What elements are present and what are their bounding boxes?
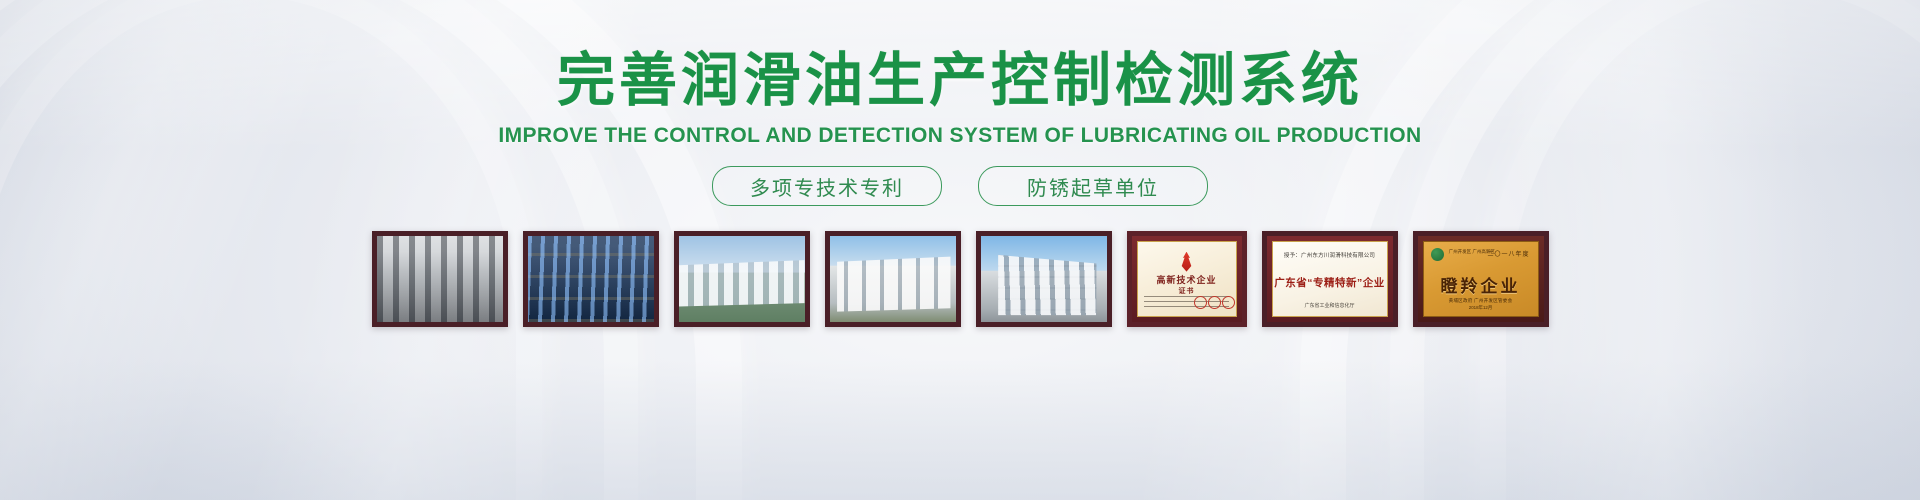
- banner-headline: 完善润滑油生产控制检测系统: [557, 52, 1363, 110]
- plaque-face: 广州开发区 广州高新区 二〇一八年度 瞪羚企业 黄埔区政府 广州开发区管委会 2…: [1423, 241, 1539, 317]
- photo-image: [528, 236, 654, 322]
- cert-top-line: 授予：广州东方川润滑科技有限公司: [1282, 251, 1378, 259]
- plaque-year: 二〇一八年度: [1488, 249, 1530, 258]
- thumbnail-gallery: 高新技术企业 证书 授予：广州东方川润滑科技有限公司 广东省“专精特新”企业 广…: [372, 231, 1549, 327]
- cert-title-main: 高新技术企业: [1138, 273, 1236, 286]
- banner-content: 完善润滑油生产控制检测系统 IMPROVE THE CONTROL AND DE…: [0, 0, 1920, 500]
- cert-title-main: 广东省“专精特新”企业: [1273, 275, 1387, 290]
- cert-bottom-line: 广东省工业和信息化厅: [1273, 302, 1387, 309]
- cert-title-sub: 证书: [1138, 286, 1236, 296]
- flame-icon: [1179, 252, 1195, 272]
- plaque-bottom-line: 黄埔区政府 广州开发区管委会: [1424, 298, 1538, 304]
- photo-image: [377, 236, 503, 322]
- badge-row: 多项专技术专利 防锈起草单位: [712, 166, 1208, 206]
- certificate-face: 授予：广州东方川润滑科技有限公司 广东省“专精特新”企业 广东省工业和信息化厅: [1272, 241, 1388, 317]
- gov-logo-icon: [1431, 248, 1444, 261]
- plaque-bottom-date: 2018年12月: [1424, 305, 1538, 311]
- photo-factory-interior[interactable]: [372, 231, 508, 327]
- photo-image: [981, 236, 1107, 322]
- promo-banner: 完善润滑油生产控制检测系统 IMPROVE THE CONTROL AND DE…: [0, 0, 1920, 500]
- plaque-title-main: 瞪羚企业: [1424, 272, 1538, 297]
- photo-office-building[interactable]: [976, 231, 1112, 327]
- photo-image: [679, 236, 805, 322]
- photo-blue-piping[interactable]: [523, 231, 659, 327]
- banner-subheadline: IMPROVE THE CONTROL AND DETECTION SYSTEM…: [498, 124, 1421, 148]
- certificate-face: 高新技术企业 证书: [1137, 241, 1237, 317]
- photo-image: [830, 236, 956, 322]
- cert-high-tech-enterprise[interactable]: 高新技术企业 证书: [1127, 231, 1247, 327]
- badge-antirust-standard[interactable]: 防锈起草单位: [978, 166, 1208, 206]
- seal-icon: [1222, 296, 1235, 309]
- plaque-gazelle-enterprise[interactable]: 广州开发区 广州高新区 二〇一八年度 瞪羚企业 黄埔区政府 广州开发区管委会 2…: [1413, 231, 1549, 327]
- photo-storage-tanks[interactable]: [674, 231, 810, 327]
- photo-plant-building[interactable]: [825, 231, 961, 327]
- badge-patents[interactable]: 多项专技术专利: [712, 166, 942, 206]
- cert-specialized-new[interactable]: 授予：广州东方川润滑科技有限公司 广东省“专精特新”企业 广东省工业和信息化厅: [1262, 231, 1398, 327]
